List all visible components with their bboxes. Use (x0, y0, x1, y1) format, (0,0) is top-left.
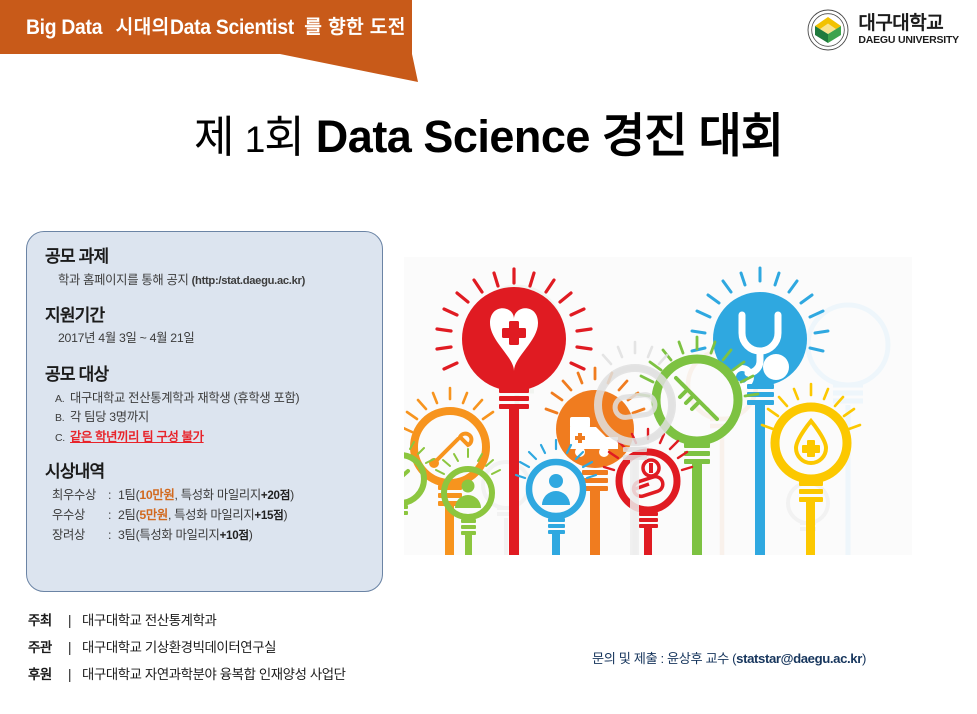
organization-row: 주최 | 대구대학교 전산통계학과 (28, 608, 346, 635)
organization-value: 대구대학교 자연과학분야 융복합 인재양성 사업단 (82, 662, 346, 689)
organization-divider: | (68, 635, 82, 662)
award-name: 최우수상 (52, 486, 108, 506)
list-item-label: 대구대학교 전산통계학과 재학생 (휴학생 포함) (70, 389, 299, 408)
organization-label: 후원 (28, 662, 68, 689)
section-subject-heading: 공모 과제 (45, 248, 368, 267)
section-eligibility-list: A. 대구대학교 전산통계학과 재학생 (휴학생 포함) B. 각 팀당 3명까… (45, 389, 368, 446)
award-close-paren: ) (284, 506, 288, 526)
header-tagline-part-1: Big Data (26, 17, 102, 38)
section-period-heading: 지원기간 (45, 307, 368, 326)
contact-line: 문의 및 제출 : 윤상후 교수 (statstar@daegu.ac.kr) (592, 648, 866, 667)
organization-divider: | (68, 608, 82, 635)
university-wordmark: 대구대학교 DAEGU UNIVERSITY (858, 14, 959, 46)
award-row: 최우수상 : 1팀 ( 10만원 , 특성화 마일리지 +20점 ) (52, 486, 368, 506)
section-subject: 공모 과제 학과 홈페이지를 통해 공지 (http:/stat.daegu.a… (45, 248, 368, 290)
contact-email[interactable]: statstar@daegu.ac.kr (736, 651, 862, 666)
organization-row: 주관 | 대구대학교 기상환경빅데이터연구실 (28, 635, 346, 662)
list-item-marker: B. (55, 410, 70, 426)
footer-organizations: 주최 | 대구대학교 전산통계학과 주관 | 대구대학교 기상환경빅데이터연구실… (28, 608, 346, 688)
section-eligibility: 공모 대상 A. 대구대학교 전산통계학과 재학생 (휴학생 포함) B. 각 … (45, 366, 368, 447)
title-sequence: 제 1회 (194, 113, 304, 162)
list-item-marker: A. (55, 391, 70, 407)
title-sequence-prefix: 제 (194, 113, 233, 162)
daegu-university-seal-icon (807, 9, 849, 51)
list-item-marker: C. (55, 430, 70, 446)
header-tagline: Big Data 시대의 Data Scientist 를 향한 도전 (26, 10, 406, 44)
award-separator: : (108, 486, 118, 506)
title-sequence-number: 1 (245, 119, 265, 160)
title-sequence-suffix: 회 (264, 113, 303, 162)
section-awards-heading: 시상내역 (45, 463, 368, 482)
contact-prefix: 문의 및 제출 : 윤상후 교수 ( (592, 651, 736, 666)
award-points: +20점 (261, 487, 290, 506)
organization-divider: | (68, 662, 82, 689)
page-title: 제 1회 Data Science 경진 대회 (0, 112, 977, 160)
organization-row: 후원 | 대구대학교 자연과학분야 융복합 인재양성 사업단 (28, 662, 346, 689)
title-english: Data Science (304, 111, 602, 162)
section-period-body: 2017년 4월 3일 ~ 4월 21일 (45, 330, 368, 347)
section-subject-text: 학과 홈페이지를 통해 공지 (58, 273, 192, 287)
award-name: 우수상 (52, 506, 108, 526)
award-close-paren: ) (249, 526, 253, 546)
section-eligibility-heading: 공모 대상 (45, 366, 368, 385)
award-separator: : (108, 506, 118, 526)
header-tagline-part-2: 시대의 (116, 18, 170, 37)
announcement-info-box: 공모 과제 학과 홈페이지를 통해 공지 (http:/stat.daegu.a… (26, 231, 383, 592)
list-item: B. 각 팀당 3명까지 (55, 408, 368, 427)
organization-value: 대구대학교 기상환경빅데이터연구실 (82, 635, 276, 662)
section-awards-list: 최우수상 : 1팀 ( 10만원 , 특성화 마일리지 +20점 ) 우수상 :… (45, 486, 368, 546)
organization-value: 대구대학교 전산통계학과 (82, 608, 216, 635)
presentation-slide: Big Data 시대의 Data Scientist 를 향한 도전 대구대학… (0, 0, 977, 714)
award-money: 10만원 (139, 486, 174, 506)
award-row: 장려상 : 3팀 ( 특성화 마일리지 +10점 ) (52, 526, 368, 546)
header-tagline-part-4: 를 향한 도전 (304, 18, 405, 37)
list-item-label-highlighted: 같은 학년끼리 팀 구성 불가 (70, 428, 204, 447)
award-points: +10점 (220, 527, 249, 546)
list-item: A. 대구대학교 전산통계학과 재학생 (휴학생 포함) (55, 389, 368, 408)
section-subject-url[interactable]: (http:/stat.daegu.ac.kr) (192, 275, 305, 287)
list-item-label: 각 팀당 3명까지 (70, 408, 149, 427)
award-row: 우수상 : 2팀 ( 5만원 , 특성화 마일리지 +15점 ) (52, 506, 368, 526)
organization-label: 주최 (28, 608, 68, 635)
award-mid-text: , 특성화 마일리지 (168, 506, 254, 526)
title-korean: 경진 대회 (602, 109, 783, 162)
section-subject-body: 학과 홈페이지를 통해 공지 (http:/stat.daegu.ac.kr) (45, 272, 368, 290)
award-points: +15점 (254, 507, 283, 526)
award-teams: 2팀 (118, 506, 136, 526)
university-name-en: DAEGU UNIVERSITY (858, 35, 959, 46)
header-tagline-part-3: Data Scientist (170, 17, 294, 38)
contact-suffix: ) (862, 651, 866, 666)
award-teams: 1팀 (118, 486, 136, 506)
award-separator: : (108, 526, 118, 546)
medical-lightbulbs-illustration (404, 257, 912, 579)
title-english-text: Data Science (316, 111, 590, 162)
award-name: 장려상 (52, 526, 108, 546)
list-item: C. 같은 학년끼리 팀 구성 불가 (55, 428, 368, 447)
university-name-kr: 대구대학교 (858, 14, 959, 33)
award-close-paren: ) (290, 486, 294, 506)
award-mid-text: , 특성화 마일리지 (174, 486, 260, 506)
award-mid-text: 특성화 마일리지 (139, 526, 219, 546)
award-money: 5만원 (139, 506, 168, 526)
organization-label: 주관 (28, 635, 68, 662)
university-logo: 대구대학교 DAEGU UNIVERSITY (807, 9, 959, 51)
section-period: 지원기간 2017년 4월 3일 ~ 4월 21일 (45, 307, 368, 348)
award-teams: 3팀 (118, 526, 136, 546)
section-awards: 시상내역 최우수상 : 1팀 ( 10만원 , 특성화 마일리지 +20점 ) … (45, 463, 368, 546)
